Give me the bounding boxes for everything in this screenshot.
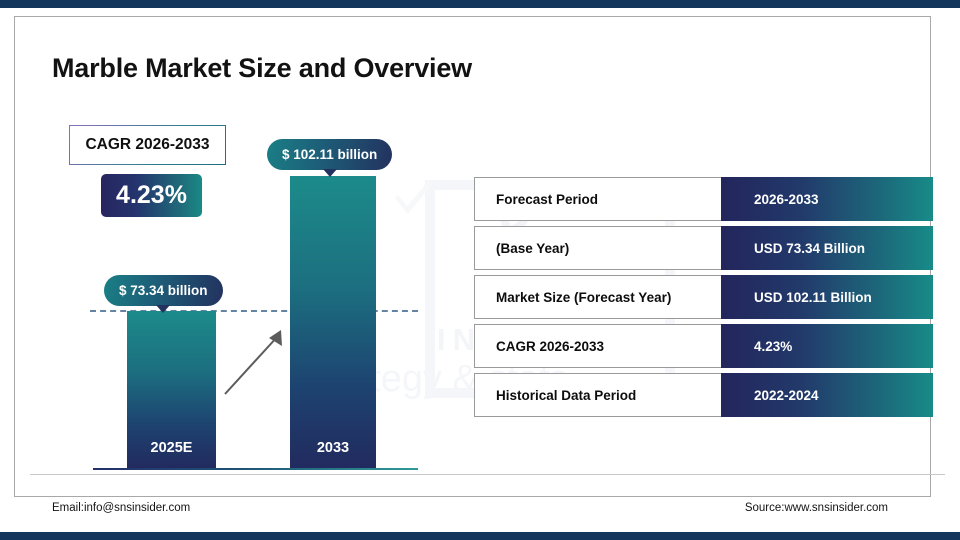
bar-chart: 2025E 2033 $ 102.11 billion $ 73.34 bill…: [15, 17, 475, 498]
table-cell-value: 2022-2024: [721, 373, 933, 417]
table-cell-label: Market Size (Forecast Year): [475, 276, 721, 318]
table-cell-value: USD 102.11 Billion: [721, 275, 933, 319]
value-pill-2033-text: $ 102.11 billion: [282, 147, 377, 162]
table-cell-value: USD 73.34 Billion: [721, 226, 933, 270]
footer-email: Email:info@snsinsider.com: [52, 502, 190, 514]
bar-2033: 2033: [290, 176, 376, 469]
value-pill-2033: $ 102.11 billion: [267, 139, 392, 170]
table-row: CAGR 2026-2033 4.23%: [474, 324, 933, 368]
table-row: (Base Year) USD 73.34 Billion: [474, 226, 933, 270]
bottom-accent-bar: [0, 532, 960, 540]
content-card: & INSIDER ategy & stats Marble Market Si…: [14, 16, 931, 497]
bar-label-2033: 2033: [290, 440, 376, 456]
table-cell-label: CAGR 2026-2033: [475, 325, 721, 367]
table-cell-value: 4.23%: [721, 324, 933, 368]
table-cell-label: (Base Year): [475, 227, 721, 269]
footer-source: Source:www.snsinsider.com: [745, 502, 888, 514]
value-pill-2025e: $ 73.34 billion: [104, 275, 223, 306]
table-row: Historical Data Period 2022-2024: [474, 373, 933, 417]
table-cell-label: Forecast Period: [475, 178, 721, 220]
top-accent-bar: [0, 0, 960, 8]
growth-arrow-icon: [215, 322, 295, 402]
slide-root: & INSIDER ategy & stats Marble Market Si…: [0, 0, 960, 540]
bar-2025e: 2025E: [127, 311, 216, 469]
table-cell-value: 2026-2033: [721, 177, 933, 221]
table-row: Market Size (Forecast Year) USD 102.11 B…: [474, 275, 933, 319]
footer-divider: [30, 474, 945, 475]
overview-table: Forecast Period 2026-2033 (Base Year) US…: [474, 177, 933, 422]
table-cell-label: Historical Data Period: [475, 374, 721, 416]
table-row: Forecast Period 2026-2033: [474, 177, 933, 221]
bar-label-2025e: 2025E: [127, 440, 216, 456]
value-pill-2025e-text: $ 73.34 billion: [119, 283, 208, 298]
chart-axis-line: [93, 468, 418, 470]
